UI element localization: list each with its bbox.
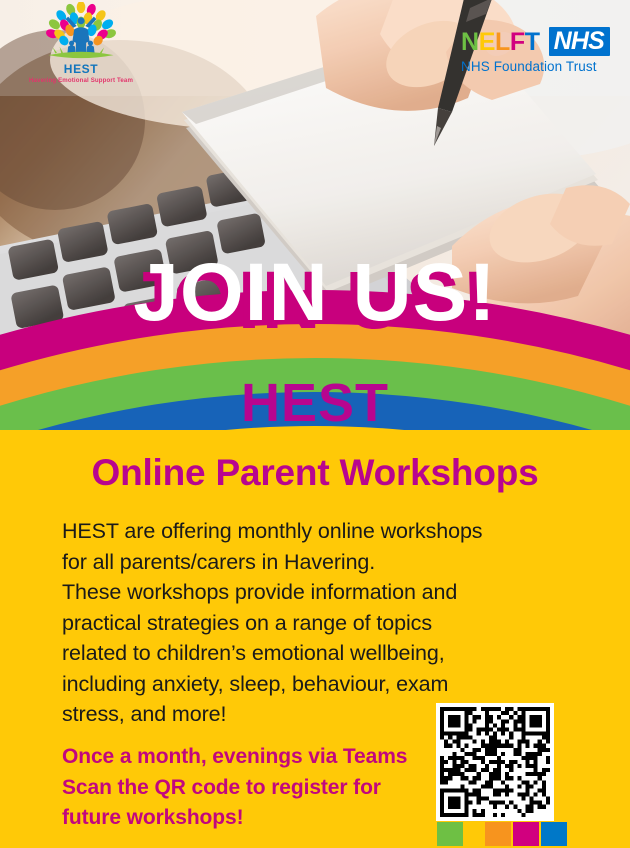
body-copy: HEST are offering monthly online worksho… — [62, 516, 582, 730]
hest-logo-tagline: Havering Emotional Support Team — [22, 77, 140, 85]
nhs-foundation-trust-line: NHS Foundation Trust — [461, 59, 610, 74]
poster-canvas: HEST Havering Emotional Support Team NEL… — [0, 0, 630, 848]
swatch-orange — [485, 822, 511, 846]
nelft-letter-n: N — [461, 28, 479, 56]
body-line-3: These workshops provide information and — [62, 577, 582, 608]
body-line-6: including anxiety, sleep, behaviour, exa… — [62, 669, 582, 700]
swatch-blue — [541, 822, 567, 846]
nelft-letter-l: L — [495, 28, 510, 56]
swatch-green — [437, 822, 463, 846]
hest-logo: HEST Havering Emotional Support Team — [22, 2, 140, 88]
nelft-letter-e: E — [479, 28, 495, 56]
nhs-badge: NHS — [549, 27, 610, 56]
tree-with-people-icon — [38, 2, 124, 62]
nelft-wordmark: NELFT — [461, 29, 540, 55]
page-title: HEST — [0, 374, 630, 432]
cta-line-2: Scan the QR code to register for — [62, 773, 452, 804]
qr-code-image[interactable] — [436, 703, 554, 821]
join-us-banner: JOIN US! — [0, 250, 630, 336]
nelft-nhs-logo: NELFT NHS NHS Foundation Trust — [461, 27, 610, 74]
qr-code[interactable] — [436, 703, 554, 821]
body-line-4: practical strategies on a range of topic… — [62, 608, 582, 639]
call-to-action-text: Once a month, evenings via TeamsScan the… — [62, 742, 452, 834]
nelft-row: NELFT NHS — [461, 27, 610, 56]
nelft-letter-f: F — [510, 28, 525, 56]
page-subtitle: Online Parent Workshops — [0, 452, 630, 494]
nelft-letter-t: T — [525, 28, 540, 56]
cta-line-1: Once a month, evenings via Teams — [62, 742, 452, 773]
swatch-magenta — [513, 822, 539, 846]
cta-line-3: future workshops! — [62, 803, 452, 834]
body-line-1: HEST are offering monthly online worksho… — [62, 516, 582, 547]
color-swatch-row — [437, 822, 553, 846]
body-line-5: related to children’s emotional wellbein… — [62, 638, 582, 669]
hest-logo-name: HEST — [22, 63, 140, 76]
body-line-2: for all parents/carers in Havering. — [62, 547, 582, 578]
